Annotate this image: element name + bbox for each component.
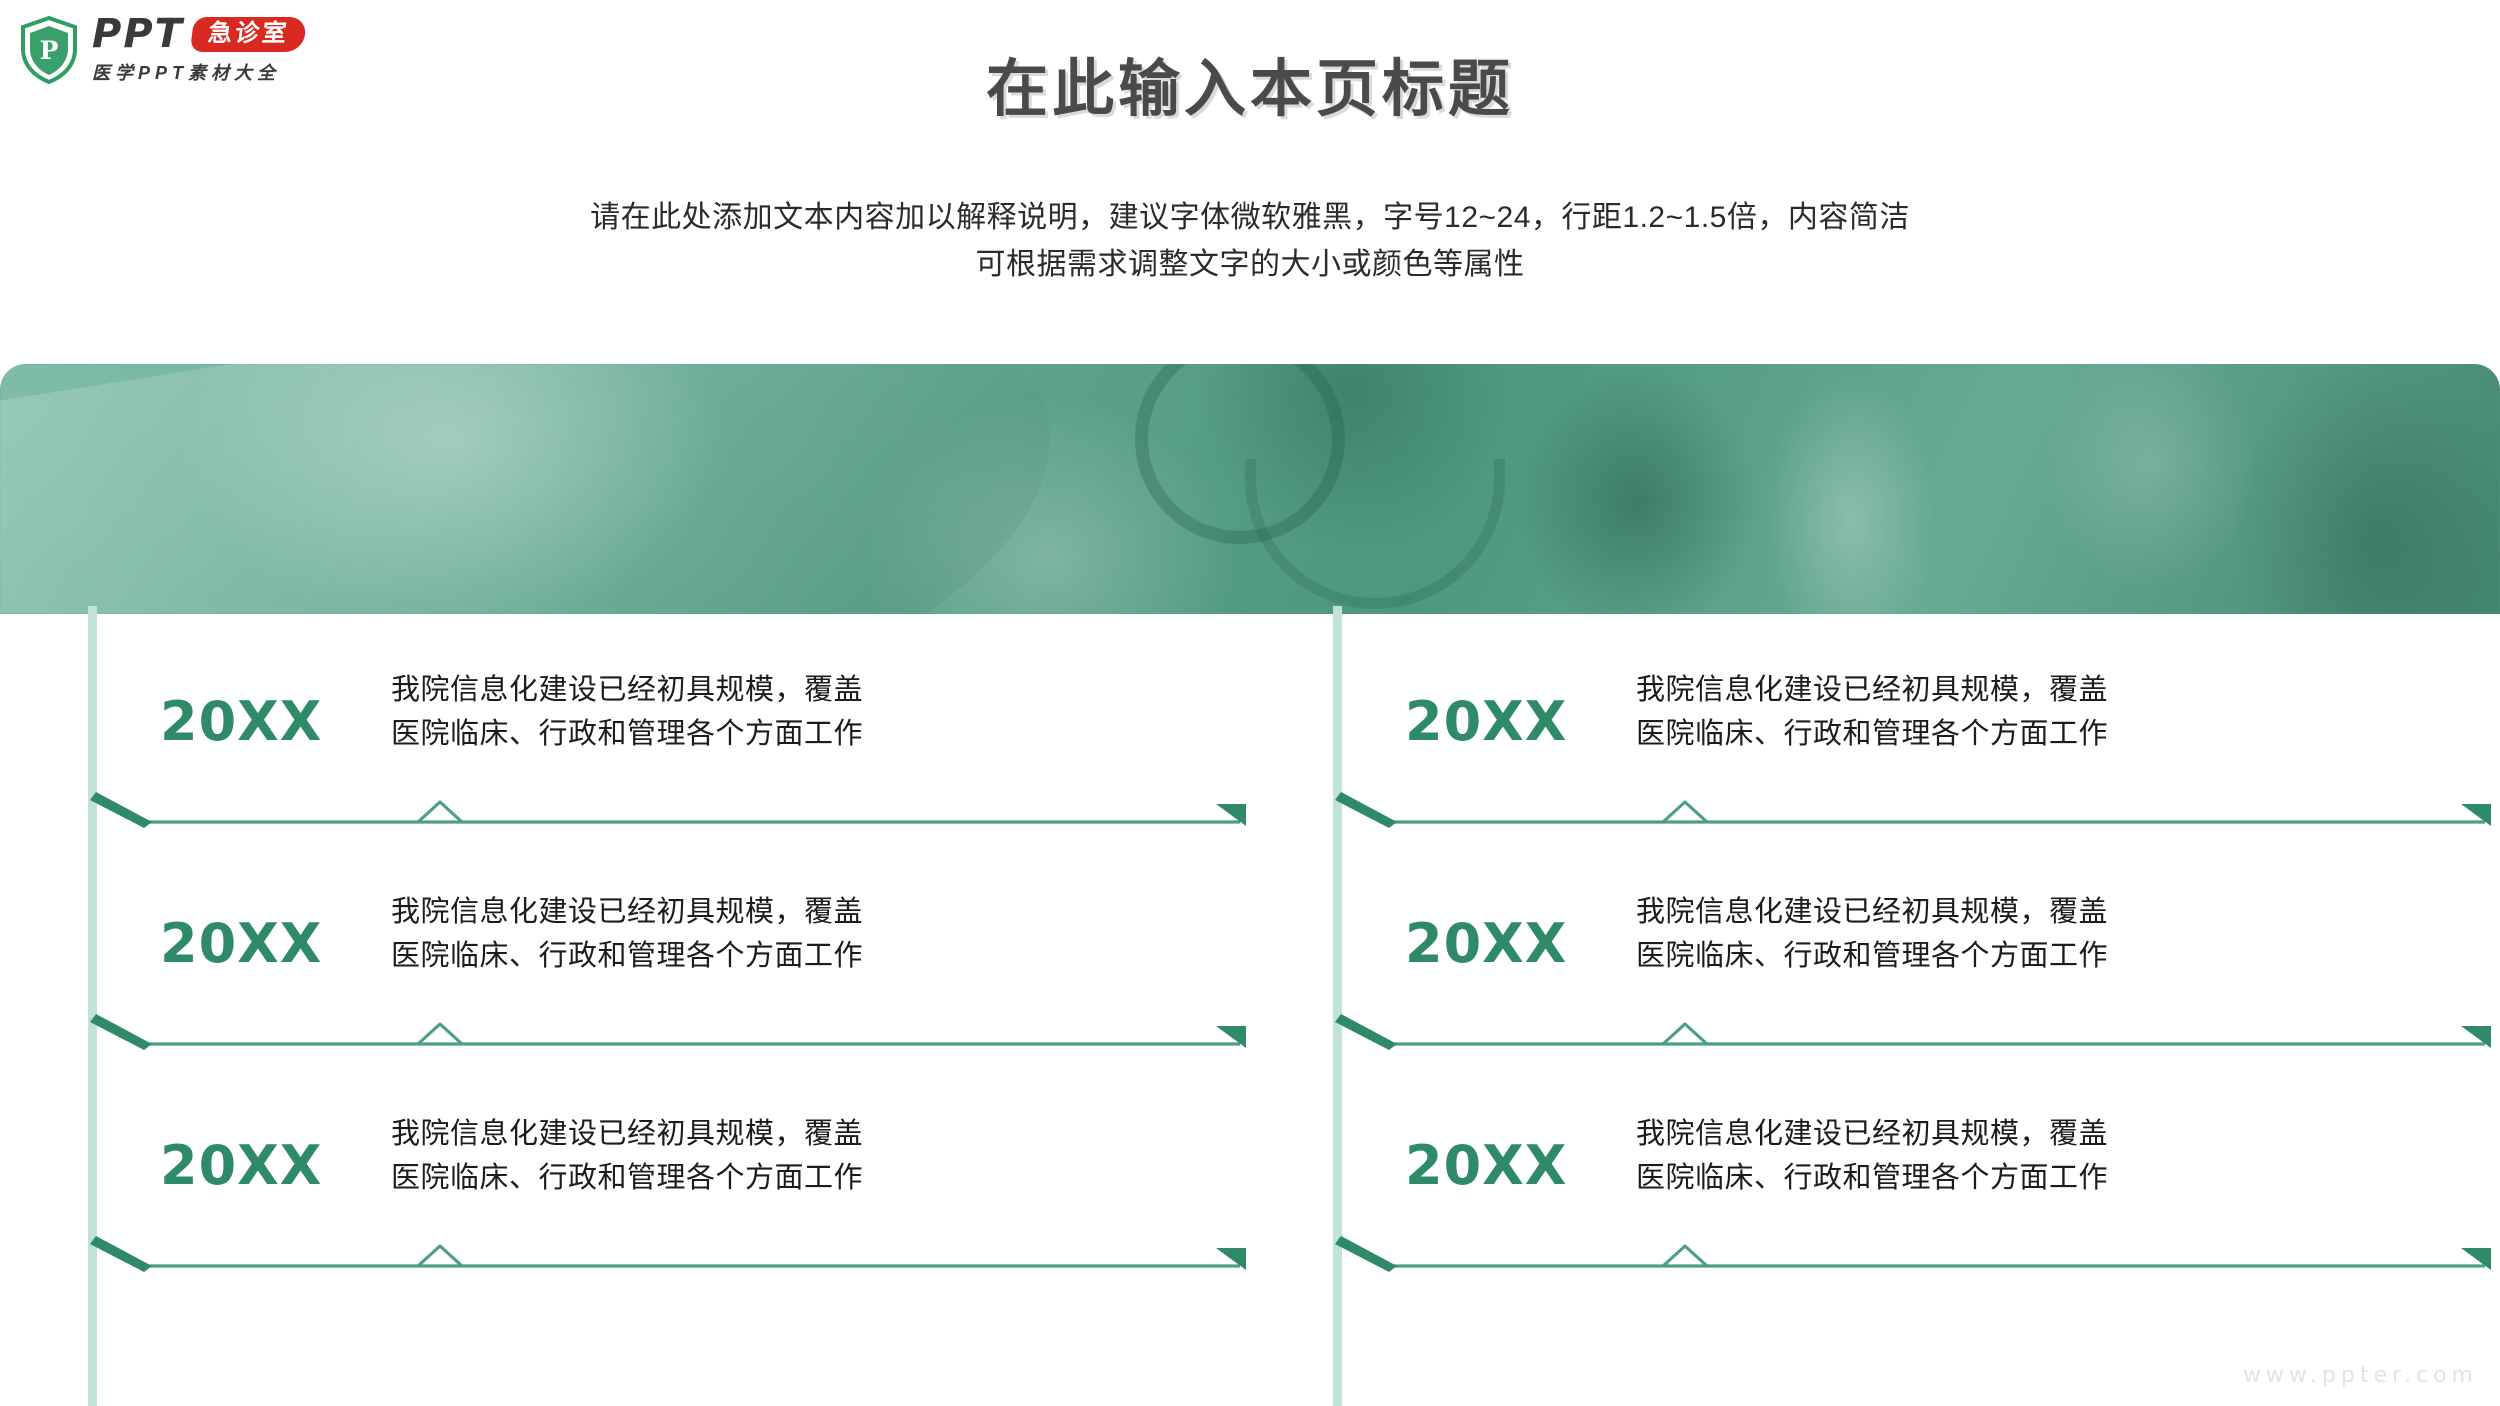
timeline-connector xyxy=(1333,784,2500,828)
timeline-item[interactable]: 20XX 我院信息化建设已经初具规模，覆盖 医院临床、行政和管理各个方面工作 xyxy=(88,1072,1268,1294)
timeline-text-line-1: 我院信息化建设已经初具规模，覆盖 xyxy=(391,1112,1091,1156)
page-subtitle: 请在此处添加文本内容加以解释说明，建议字体微软雅黑，字号12~24，行距1.2~… xyxy=(0,195,2500,288)
timeline-description: 我院信息化建设已经初具规模，覆盖 医院临床、行政和管理各个方面工作 xyxy=(391,668,1091,756)
subtitle-line-2: 可根据需求调整文字的大小或颜色等属性 xyxy=(0,242,2500,289)
subtitle-line-1: 请在此处添加文本内容加以解释说明，建议字体微软雅黑，字号12~24，行距1.2~… xyxy=(0,195,2500,242)
timeline-item[interactable]: 20XX 我院信息化建设已经初具规模，覆盖 医院临床、行政和管理各个方面工作 xyxy=(1333,628,2500,850)
timeline-year: 20XX xyxy=(160,690,370,753)
timeline-year: 20XX xyxy=(1405,1134,1615,1197)
timeline-text-line-1: 我院信息化建设已经初具规模，覆盖 xyxy=(1636,668,2336,712)
timeline-connector xyxy=(88,784,1268,828)
timeline-year: 20XX xyxy=(160,1134,370,1197)
timeline-item[interactable]: 20XX 我院信息化建设已经初具规模，覆盖 医院临床、行政和管理各个方面工作 xyxy=(88,628,1268,850)
timeline-year: 20XX xyxy=(1405,690,1615,753)
timeline-item[interactable]: 20XX 我院信息化建设已经初具规模，覆盖 医院临床、行政和管理各个方面工作 xyxy=(1333,1072,2500,1294)
banner-doctor-arm xyxy=(0,364,1086,614)
timeline-connector xyxy=(88,1228,1268,1272)
timeline-description: 我院信息化建设已经初具规模，覆盖 医院临床、行政和管理各个方面工作 xyxy=(1636,1112,2336,1200)
timeline-connector xyxy=(1333,1228,2500,1272)
timeline-year: 20XX xyxy=(160,912,370,975)
timeline-connector xyxy=(1333,1006,2500,1050)
timeline-text-line-1: 我院信息化建设已经初具规模，覆盖 xyxy=(1636,1112,2336,1156)
timeline-text-line-1: 我院信息化建设已经初具规模，覆盖 xyxy=(391,890,1091,934)
timeline-connector xyxy=(88,1006,1268,1050)
banner-image xyxy=(0,364,2500,614)
timeline-item[interactable]: 20XX 我院信息化建设已经初具规模，覆盖 医院临床、行政和管理各个方面工作 xyxy=(88,850,1268,1072)
page-title: 在此输入本页标题 xyxy=(0,38,2500,128)
timeline-year: 20XX xyxy=(1405,912,1615,975)
timeline-description: 我院信息化建设已经初具规模，覆盖 医院临床、行政和管理各个方面工作 xyxy=(391,890,1091,978)
timeline-text-line-2: 医院临床、行政和管理各个方面工作 xyxy=(1636,1156,2336,1200)
timeline-description: 我院信息化建设已经初具规模，覆盖 医院临床、行政和管理各个方面工作 xyxy=(391,1112,1091,1200)
timeline-text-line-2: 医院临床、行政和管理各个方面工作 xyxy=(391,934,1091,978)
timeline-text-line-2: 医院临床、行政和管理各个方面工作 xyxy=(1636,934,2336,978)
timeline-section: 20XX 我院信息化建设已经初具规模，覆盖 医院临床、行政和管理各个方面工作 2… xyxy=(0,614,2500,1406)
timeline-item[interactable]: 20XX 我院信息化建设已经初具规模，覆盖 医院临床、行政和管理各个方面工作 xyxy=(1333,850,2500,1072)
timeline-text-line-1: 我院信息化建设已经初具规模，覆盖 xyxy=(391,668,1091,712)
timeline-text-line-2: 医院临床、行政和管理各个方面工作 xyxy=(391,712,1091,756)
timeline-description: 我院信息化建设已经初具规模，覆盖 医院临床、行政和管理各个方面工作 xyxy=(1636,668,2336,756)
timeline-description: 我院信息化建设已经初具规模，覆盖 医院临床、行政和管理各个方面工作 xyxy=(1636,890,2336,978)
site-watermark: www.ppter.com xyxy=(2243,1363,2478,1388)
timeline-text-line-2: 医院临床、行政和管理各个方面工作 xyxy=(391,1156,1091,1200)
timeline-text-line-1: 我院信息化建设已经初具规模，覆盖 xyxy=(1636,890,2336,934)
timeline-left-column: 20XX 我院信息化建设已经初具规模，覆盖 医院临床、行政和管理各个方面工作 2… xyxy=(88,614,1268,1406)
timeline-text-line-2: 医院临床、行政和管理各个方面工作 xyxy=(1636,712,2336,756)
timeline-right-column: 20XX 我院信息化建设已经初具规模，覆盖 医院临床、行政和管理各个方面工作 2… xyxy=(1333,614,2500,1406)
